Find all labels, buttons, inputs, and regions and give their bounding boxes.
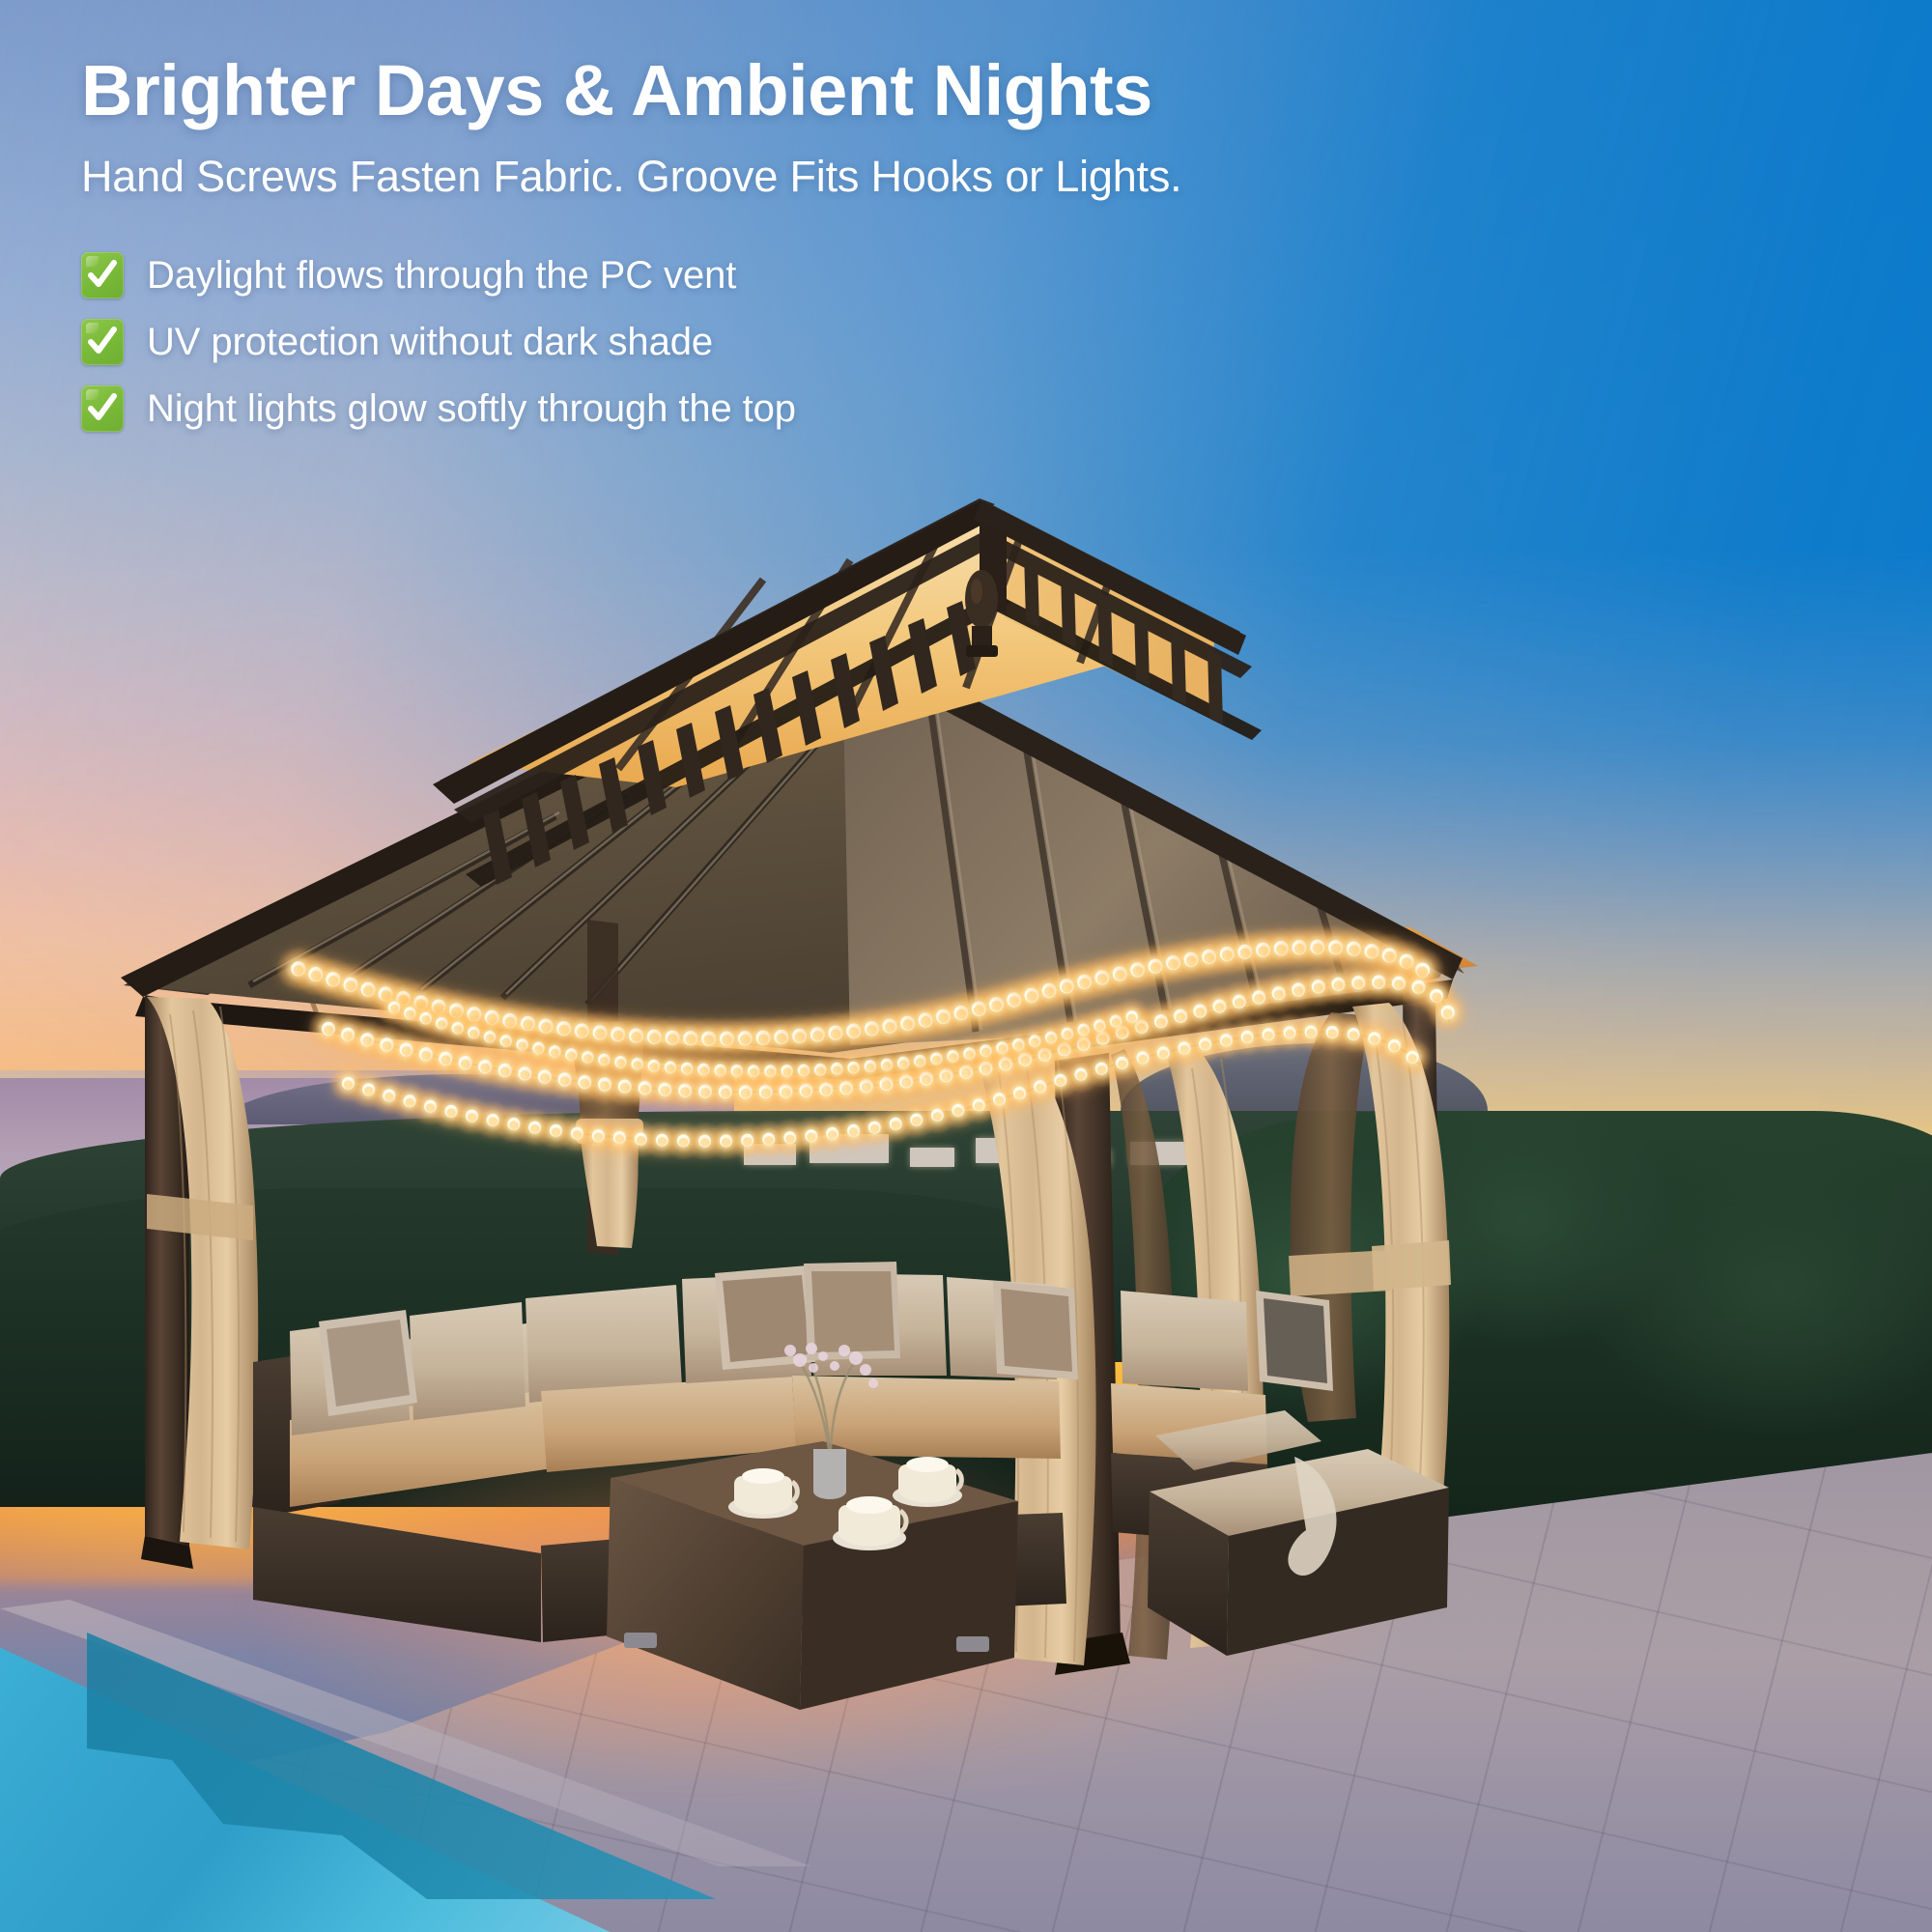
page-subtitle: Hand Screws Fasten Fabric. Groove Fits H… — [81, 151, 1530, 202]
check-mark-icon — [81, 252, 124, 298]
product-feature-banner: Brighter Days & Ambient Nights Hand Scre… — [0, 0, 1932, 1932]
feature-bullet-label: Night lights glow softly through the top — [147, 387, 796, 430]
outdoor-furniture — [253, 1262, 1449, 1710]
feature-bullet-list: Daylight flows through the PC vent UV pr… — [81, 252, 1530, 432]
feature-bullet-label: Daylight flows through the PC vent — [147, 254, 736, 297]
check-mark-icon — [81, 319, 124, 365]
list-item: Night lights glow softly through the top — [81, 385, 1530, 432]
marketing-copy-block: Brighter Days & Ambient Nights Hand Scre… — [81, 52, 1530, 452]
list-item: Daylight flows through the PC vent — [81, 252, 1530, 298]
list-item: UV protection without dark shade — [81, 319, 1530, 365]
feature-bullet-label: UV protection without dark shade — [147, 321, 713, 363]
coffee-table — [607, 1441, 1018, 1710]
check-mark-icon — [81, 385, 124, 432]
page-title: Brighter Days & Ambient Nights — [81, 52, 1530, 129]
